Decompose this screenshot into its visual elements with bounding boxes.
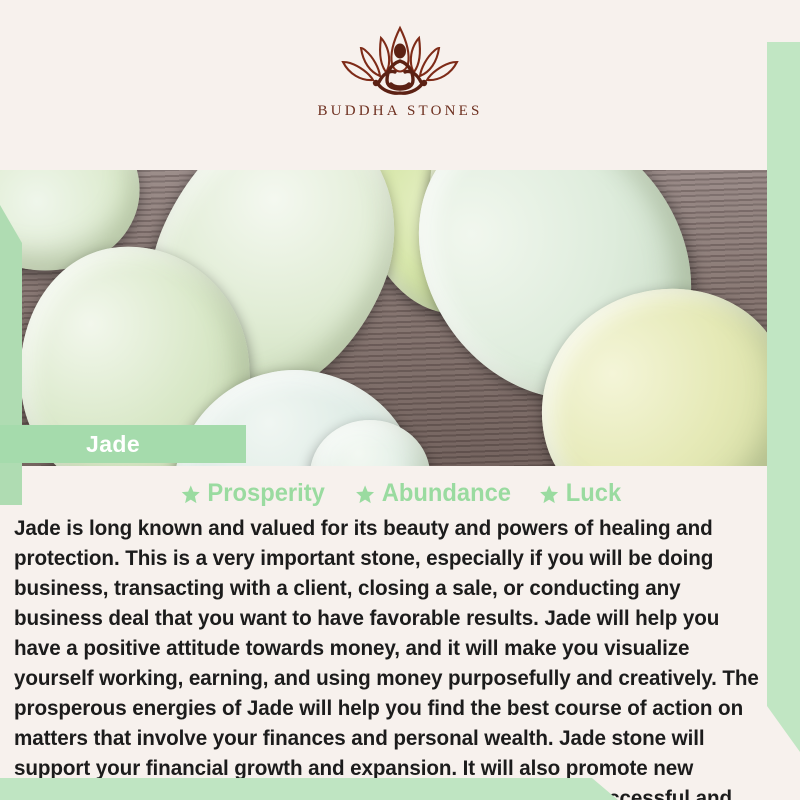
star-icon xyxy=(539,483,559,504)
star-icon xyxy=(355,483,375,504)
stone-description: Jade is long known and valued for its be… xyxy=(14,513,761,800)
decor-band-right xyxy=(767,42,800,752)
benefit-label: Abundance xyxy=(381,479,510,508)
benefit-abundance: Abundance xyxy=(355,479,511,508)
content-section: Prosperity Abundance Luck Jade is long k… xyxy=(0,466,800,800)
star-icon xyxy=(181,483,201,504)
brand-wordmark: BUDDHA STONES xyxy=(317,103,482,120)
decor-band-bottom xyxy=(0,778,618,800)
benefit-label: Luck xyxy=(565,479,620,508)
benefit-prosperity: Prosperity xyxy=(181,479,325,508)
benefit-luck: Luck xyxy=(539,479,621,508)
benefits-row: Prosperity Abundance Luck xyxy=(0,466,800,508)
stone-name-banner: Jade xyxy=(0,425,246,463)
page-header: BUDDHA STONES xyxy=(0,0,800,170)
lotus-meditation-icon xyxy=(325,22,475,100)
benefit-label: Prosperity xyxy=(207,479,324,508)
stone-name-label: Jade xyxy=(0,431,140,458)
stone-photo xyxy=(0,170,800,466)
